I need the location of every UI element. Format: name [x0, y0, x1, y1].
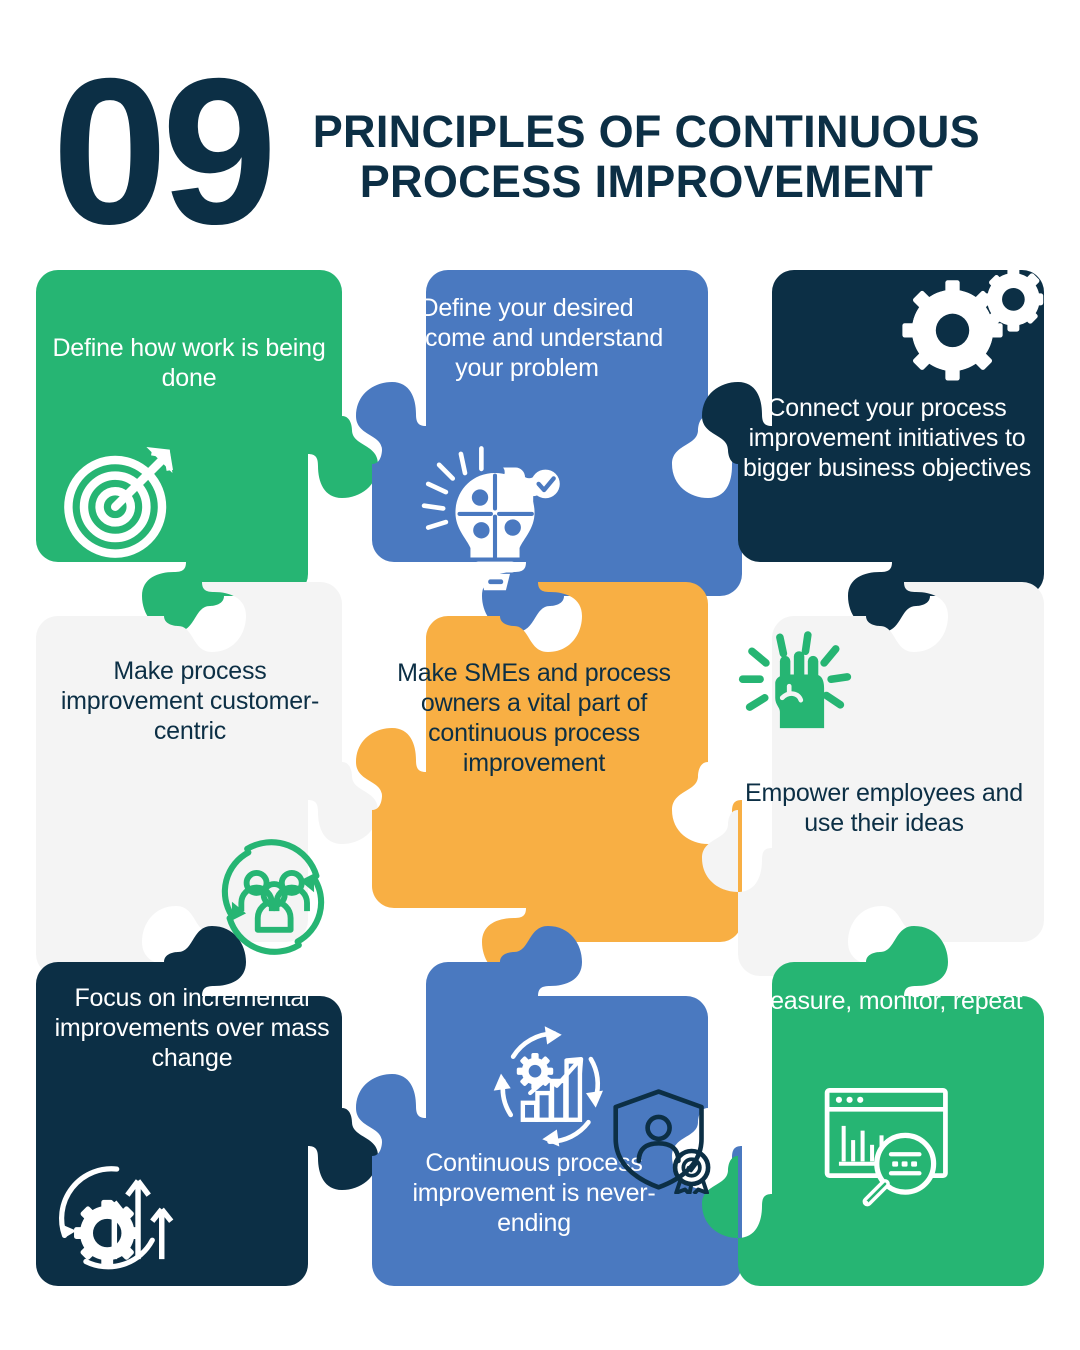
shield-badge-person-icon	[608, 1086, 718, 1194]
target-arrow-icon	[58, 434, 188, 564]
people-cycle-icon	[208, 836, 338, 958]
piece-1-label: Define how work is being done	[46, 333, 332, 393]
cycle-bar-chart-gear-icon	[484, 1020, 620, 1154]
header: 09 PRINCIPLES OF CONTINUOUS PROCESS IMPR…	[0, 52, 1080, 252]
piece-7-label: Focus on incremental improvements over m…	[46, 983, 338, 1073]
piece-4-label: Make process improvement customer-centri…	[50, 656, 330, 746]
piece-5-label: Make SMEs and process owners a vital par…	[386, 658, 682, 778]
headline-number: 09	[52, 67, 271, 238]
lightbulb-puzzle-icon	[420, 443, 570, 593]
infographic-root: 09 PRINCIPLES OF CONTINUOUS PROCESS IMPR…	[0, 0, 1080, 1350]
piece-5-shape	[356, 582, 742, 978]
piece-3-label: Connect your process improvement initiat…	[740, 393, 1034, 483]
piece-2-label: Define your desired outcome and understa…	[382, 293, 672, 383]
puzzle-grid: Define how work is being done Define you…	[0, 258, 1080, 1288]
dashboard-magnifier-icon	[820, 1083, 962, 1209]
piece-9-label: Measure, monitor, repeat	[740, 986, 1032, 1016]
piece-6-label: Empower employees and use their ideas	[728, 778, 1040, 838]
raised-fist-icon	[738, 628, 866, 756]
gears-icon	[900, 268, 1048, 388]
page-title: PRINCIPLES OF CONTINUOUS PROCESS IMPROVE…	[301, 97, 991, 208]
gear-growth-arrows-icon	[50, 1143, 200, 1271]
